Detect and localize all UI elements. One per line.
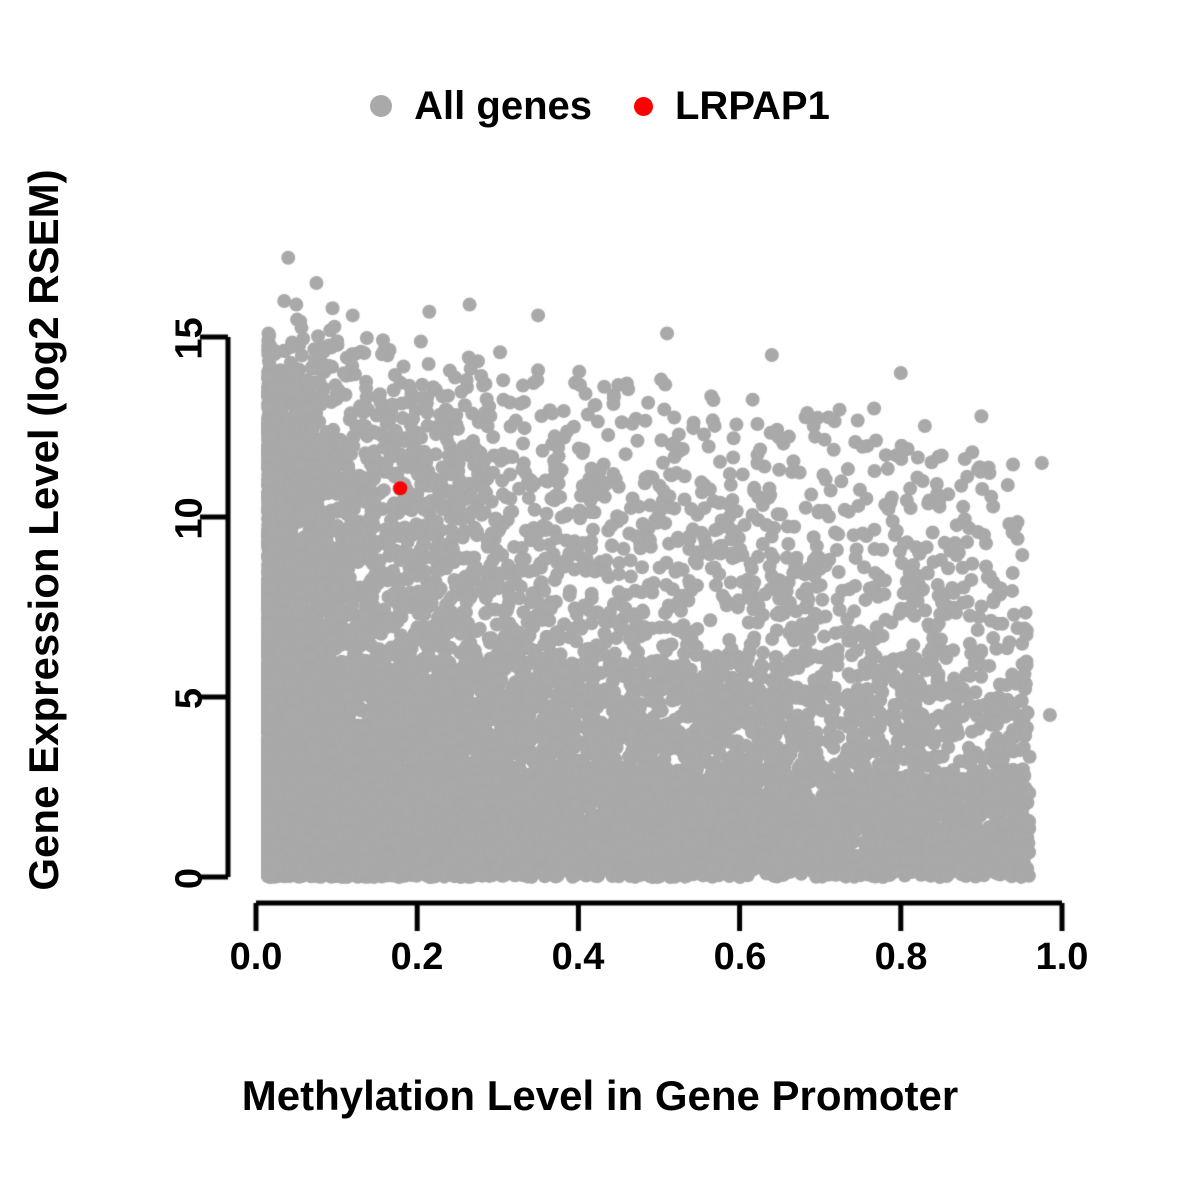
- y-tick-label-1: 5: [169, 669, 212, 729]
- y-tick-label-0: 0: [169, 849, 212, 909]
- x-tick-label-2: 0.4: [552, 936, 605, 979]
- x-axis-title: Methylation Level in Gene Promoter: [0, 1072, 1200, 1120]
- legend: All genes LRPAP1: [0, 86, 1200, 126]
- legend-entry-all-genes: All genes: [370, 86, 592, 126]
- legend-marker-lrpap1-icon: [634, 97, 653, 116]
- scatter-plot-figure: All genes LRPAP1 0.0 0.2 0.4 0.6 0.8 1.0…: [0, 0, 1200, 1200]
- legend-label-all-genes: All genes: [414, 86, 592, 126]
- legend-entry-lrpap1: LRPAP1: [634, 86, 830, 126]
- y-axis-title: Gene Expression Level (log2 RSEM): [12, 30, 76, 1030]
- scatter-plot-canvas: [0, 0, 1200, 1200]
- legend-marker-all-genes-icon: [370, 95, 392, 117]
- x-tick-label-1: 0.2: [391, 936, 444, 979]
- x-tick-label-5: 1.0: [1036, 936, 1089, 979]
- y-tick-label-3: 15: [169, 309, 212, 369]
- x-tick-label-3: 0.6: [714, 936, 767, 979]
- x-tick-label-4: 0.8: [875, 936, 928, 979]
- legend-label-lrpap1: LRPAP1: [675, 86, 830, 126]
- y-tick-label-2: 10: [169, 489, 212, 549]
- x-tick-label-0: 0.0: [230, 936, 283, 979]
